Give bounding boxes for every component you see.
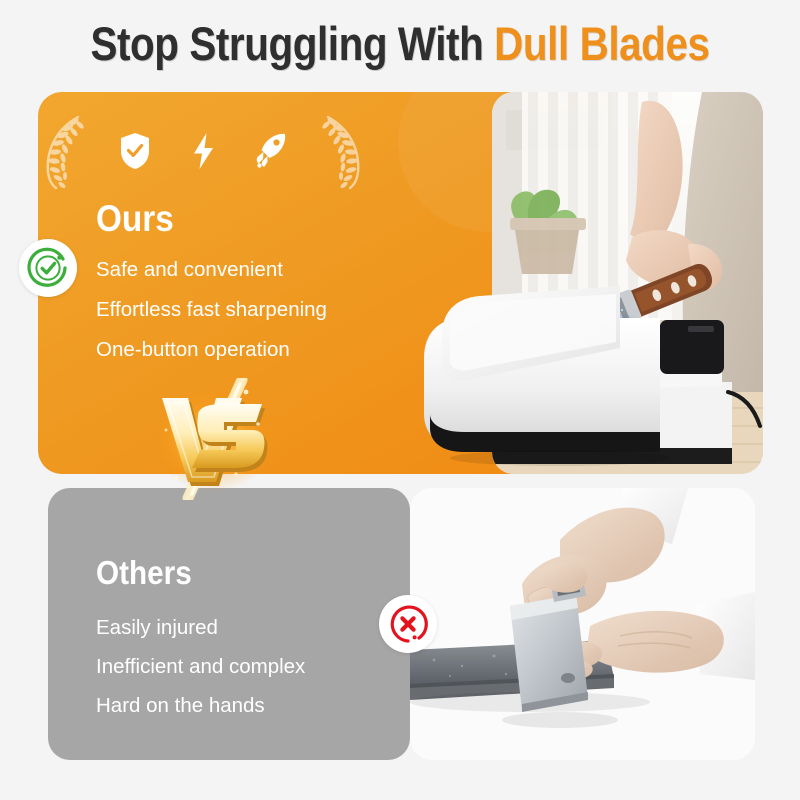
electric-knife-sharpener-photo <box>492 92 763 474</box>
others-drawback-list: Easily injured Inefficient and complex H… <box>96 608 396 725</box>
laurel-wreath-right-icon <box>322 112 368 190</box>
rocket-icon <box>254 131 288 171</box>
list-item: Hard on the hands <box>96 686 396 725</box>
page-title: Stop Struggling With Dull Blades <box>56 16 744 71</box>
others-heading: Others <box>96 554 192 592</box>
headline-dark-text: Stop Struggling With <box>90 17 483 70</box>
ours-heading: Ours <box>96 198 174 240</box>
infographic-root: Stop Struggling With Dull Blades <box>0 0 800 800</box>
trust-icon-strip <box>38 104 368 198</box>
headline-orange-text: Dull Blades <box>494 17 709 70</box>
list-item: Safe and convenient <box>96 250 426 290</box>
shield-check-icon <box>118 131 152 171</box>
laurel-wreath-left-icon <box>38 112 84 190</box>
lightning-bolt-icon <box>186 131 220 171</box>
cross-circle-icon <box>379 595 437 653</box>
list-item: Effortless fast sharpening <box>96 290 426 330</box>
manual-whetstone-photo <box>410 488 755 760</box>
list-item: One-button operation <box>96 330 426 370</box>
check-circle-icon <box>19 239 77 297</box>
list-item: Easily injured <box>96 608 396 647</box>
list-item: Inefficient and complex <box>96 647 396 686</box>
ours-feature-list: Safe and convenient Effortless fast shar… <box>96 250 426 370</box>
